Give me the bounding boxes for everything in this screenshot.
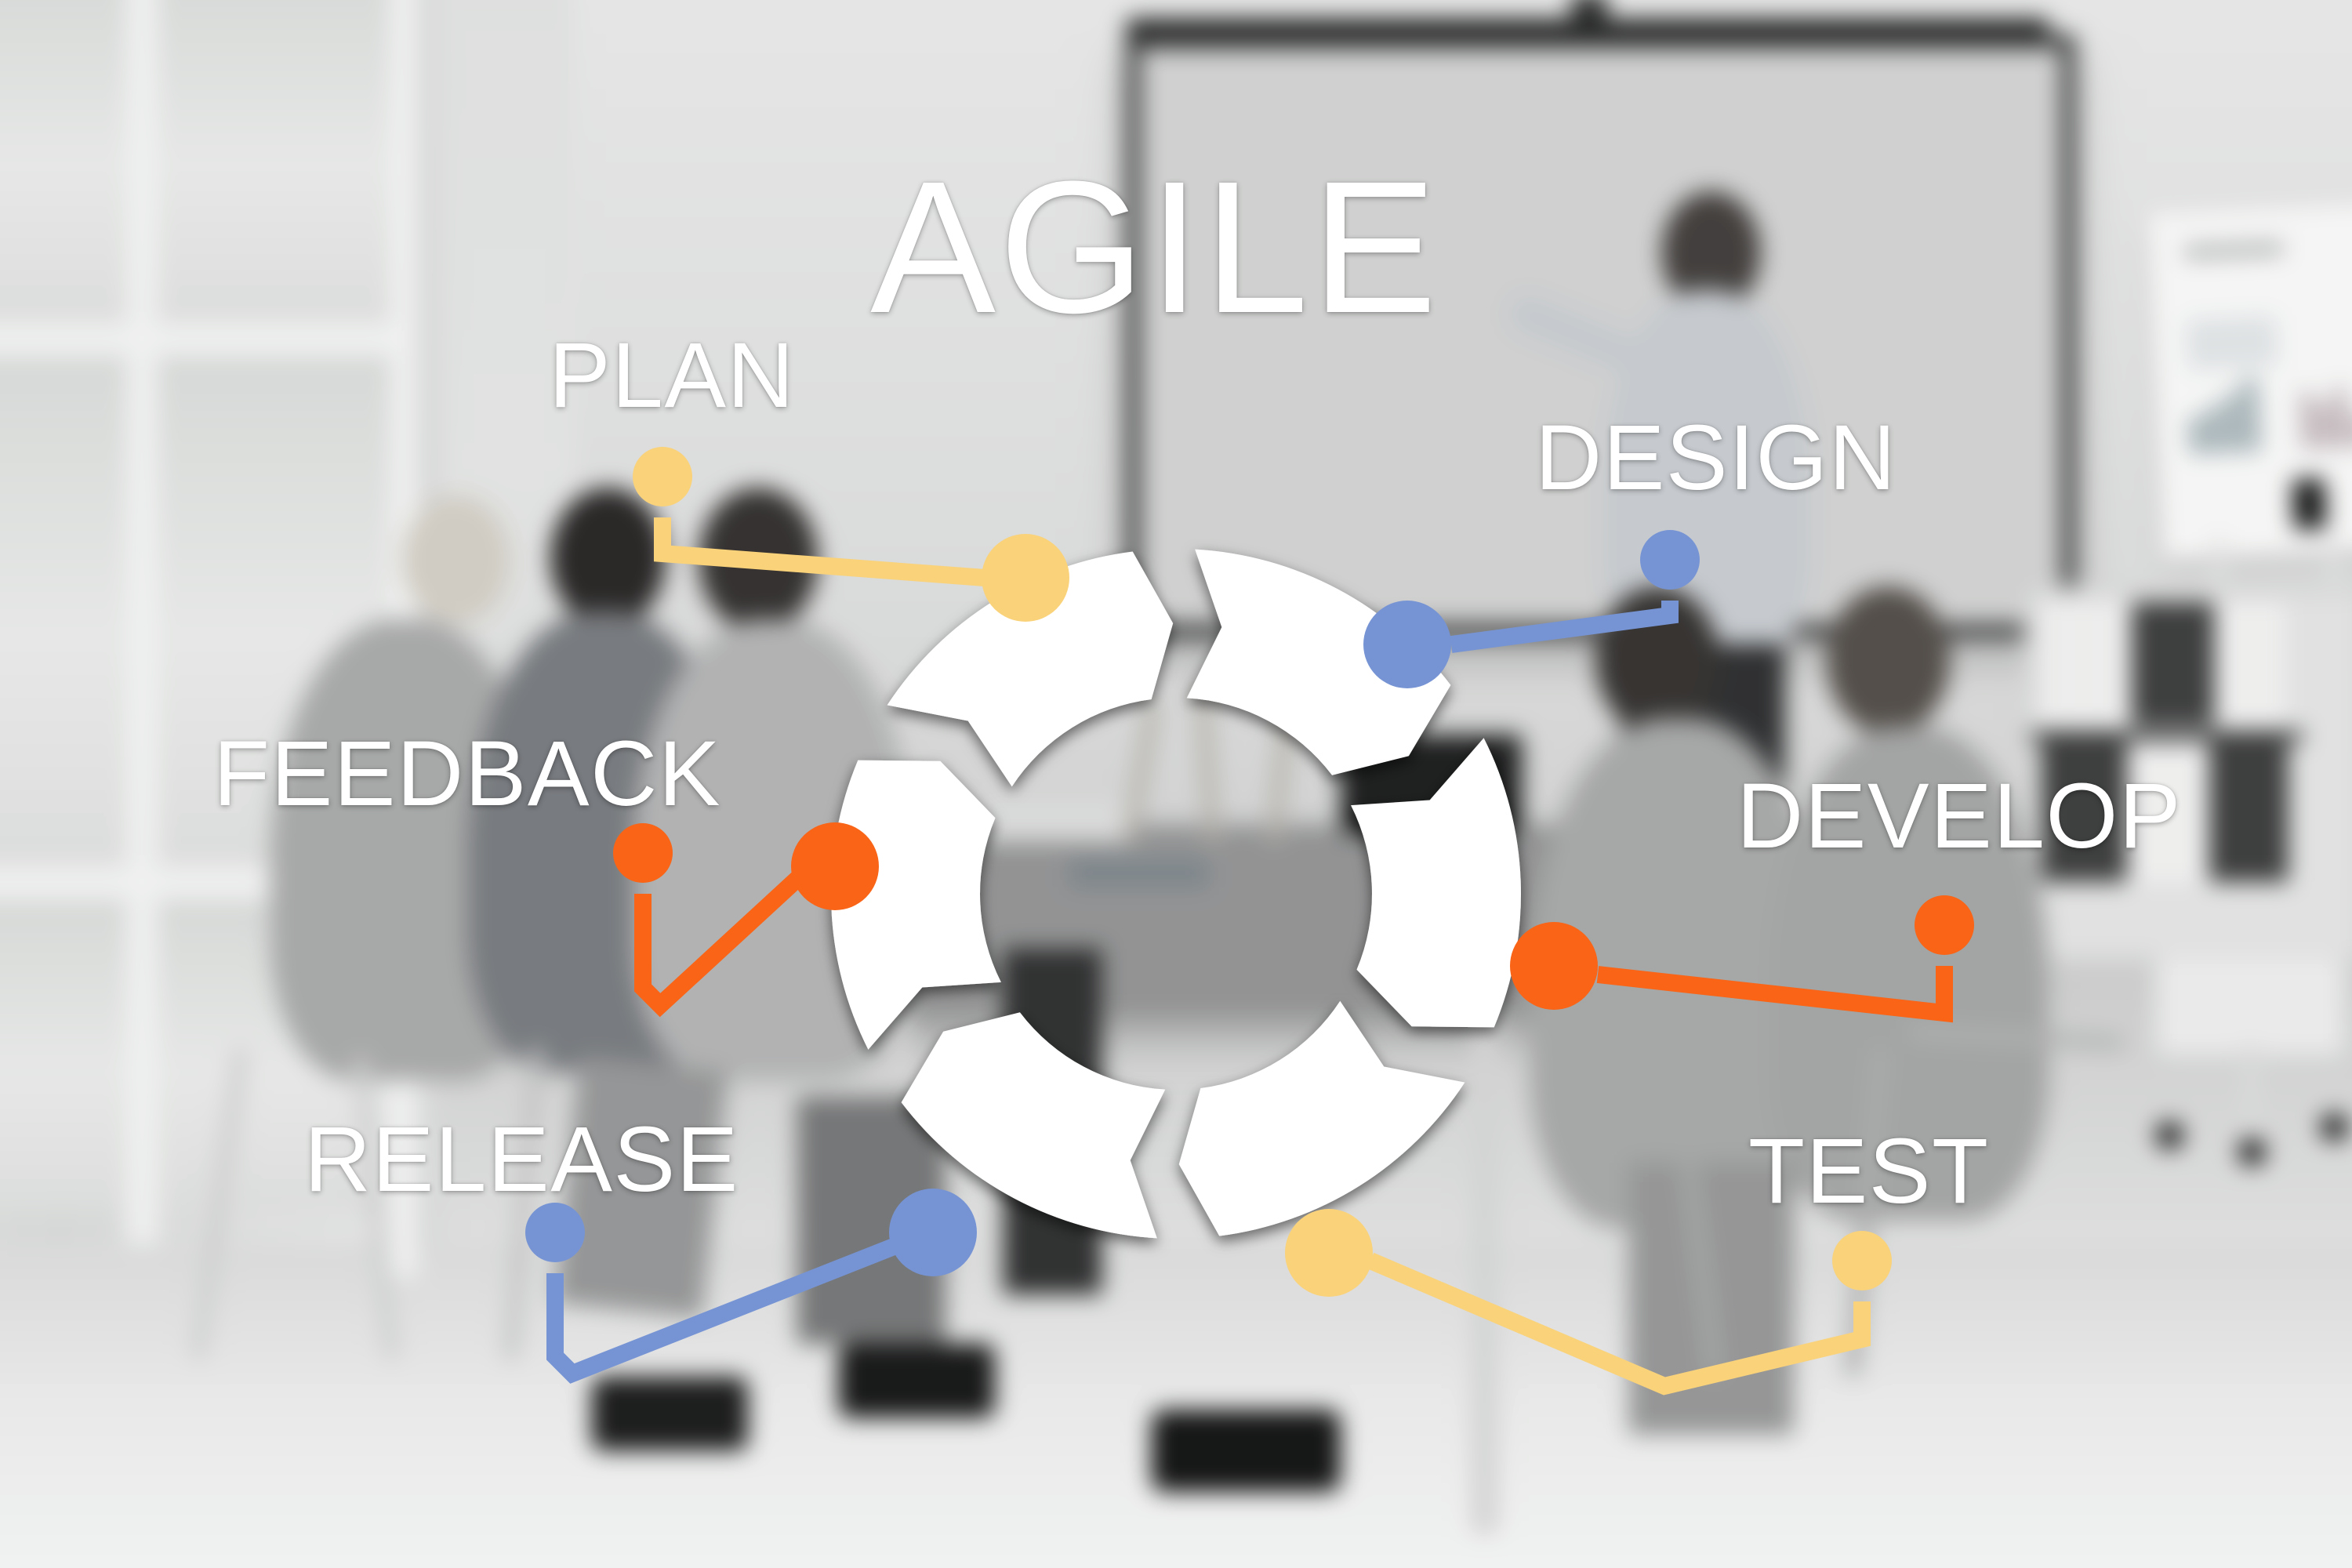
segment-node-plan[interactable] (982, 534, 1069, 622)
segment-node-release[interactable] (889, 1189, 977, 1276)
segment-node-design[interactable] (1363, 601, 1451, 688)
step-label-test: TEST (1748, 1125, 1990, 1218)
page-title: AGILE (870, 153, 1440, 341)
step-label-feedback: FEEDBACK (213, 728, 721, 820)
segment-node-develop[interactable] (1510, 922, 1598, 1010)
agile-overlay: AGILE PLAN DESIGN DEVELOP TEST RELEASE F… (0, 0, 2352, 1568)
step-label-develop: DEVELOP (1737, 770, 2182, 862)
step-label-release: RELEASE (304, 1113, 739, 1206)
agile-cycle-image: AGILE PLAN DESIGN DEVELOP TEST RELEASE F… (0, 0, 2352, 1568)
step-label-design: DESIGN (1535, 412, 1896, 504)
segment-node-feedback[interactable] (791, 822, 879, 910)
segment-node-test[interactable] (1285, 1209, 1373, 1297)
step-label-plan: PLAN (549, 329, 795, 422)
